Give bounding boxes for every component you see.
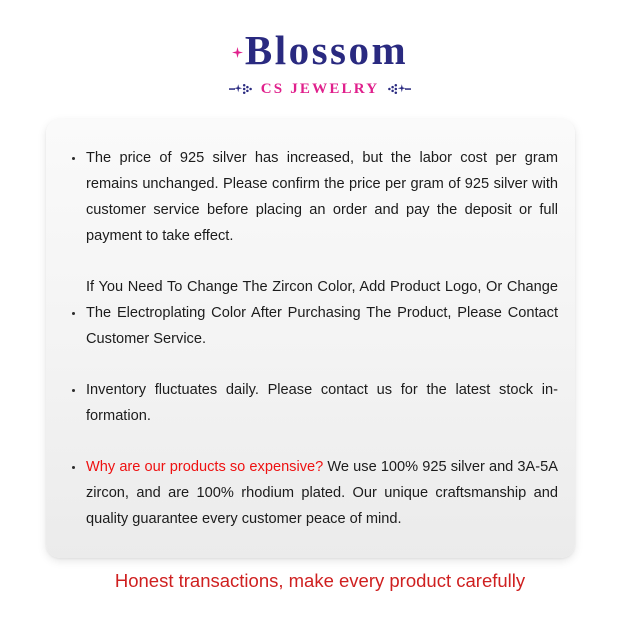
brand-subtitle: CS JEWELRY xyxy=(261,81,380,98)
list-item: The price of 925 silver has increased, b… xyxy=(66,145,558,249)
bullet-dot-icon xyxy=(66,454,80,469)
bullet-text-inventory-notice: Inventory fluctuates daily. Please conta… xyxy=(80,377,558,429)
brand-subtitle-row: CS JEWELRY xyxy=(0,79,640,99)
pricing-question-highlight: Why are our products so expensive? xyxy=(86,459,323,475)
brand-title-row: Blossom xyxy=(0,26,640,74)
bullet-text-price-notice: The price of 925 silver has increased, b… xyxy=(80,145,558,249)
bullet-dot-icon xyxy=(66,312,80,315)
snowflake-ornament-icon-left xyxy=(229,81,255,97)
notice-bullet-list: The price of 925 silver has increased, b… xyxy=(66,145,558,532)
bullet-text-customization-notice: If You Need To Change The Zircon Color, … xyxy=(80,274,558,352)
footer: Honest transactions, make every product … xyxy=(0,568,640,594)
brand-name: Blossom xyxy=(245,27,408,73)
brand-header: Blossom CS JEWELRY xyxy=(0,0,640,99)
list-item: Inventory fluctuates daily. Please conta… xyxy=(66,377,558,429)
snowflake-ornament-icon-right xyxy=(385,81,411,97)
notice-card-wrapper: The price of 925 silver has increased, b… xyxy=(46,119,575,558)
bullet-dot-icon xyxy=(66,145,80,160)
bullet-dot-icon xyxy=(66,377,80,392)
notice-card: The price of 925 silver has increased, b… xyxy=(46,119,575,558)
list-item: If You Need To Change The Zircon Color, … xyxy=(66,274,558,352)
footer-tagline: Honest transactions, make every product … xyxy=(115,570,525,591)
diamond-sparkle-icon xyxy=(232,47,243,58)
list-item: Why are our products so expensive? We us… xyxy=(66,454,558,532)
bullet-text-pricing-explanation: Why are our products so expensive? We us… xyxy=(80,454,558,532)
